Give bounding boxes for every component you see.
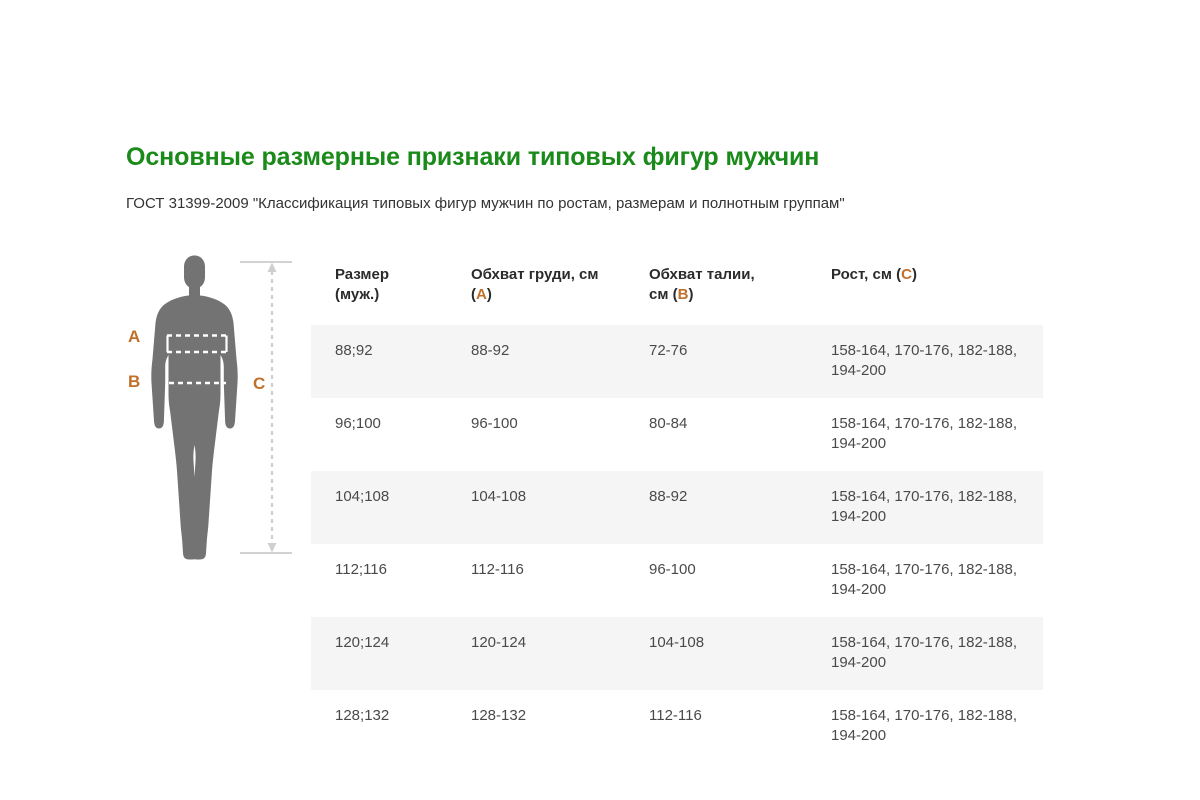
cell-height-line2: 194-200 (831, 581, 886, 598)
cell-height-line2: 194-200 (831, 362, 886, 379)
column-header-size-line2: (муж.) (335, 286, 379, 303)
column-header-waist: Обхват талии, см (B) (625, 258, 807, 325)
cell-height-line1: 158-164, 170-176, 182-188, (831, 707, 1017, 724)
table-row: 120;124120-124104-108158-164, 170-176, 1… (311, 617, 1043, 690)
cell-size: 128;132 (311, 690, 447, 763)
cell-height: 158-164, 170-176, 182-188,194-200 (807, 325, 1043, 398)
cell-size: 96;100 (311, 398, 447, 471)
cell-chest: 120-124 (447, 617, 625, 690)
cell-size: 88;92 (311, 325, 447, 398)
cell-waist: 88-92 (625, 471, 807, 544)
table-body: 88;9288-9272-76158-164, 170-176, 182-188… (311, 325, 1043, 763)
page-root: Основные размерные признаки типовых фигу… (0, 0, 1200, 800)
height-letter-mark: C (901, 266, 912, 283)
column-header-height-suffix: ) (912, 266, 917, 283)
cell-waist: 104-108 (625, 617, 807, 690)
cell-height: 158-164, 170-176, 182-188,194-200 (807, 544, 1043, 617)
table-row: 88;9288-9272-76158-164, 170-176, 182-188… (311, 325, 1043, 398)
column-header-size: Размер (муж.) (311, 258, 447, 325)
column-header-height: Рост, см (C) (807, 258, 1043, 325)
cell-waist: 112-116 (625, 690, 807, 763)
column-header-chest-suffix: ) (487, 286, 492, 303)
waist-measure-letter: B (128, 373, 140, 391)
cell-size: 112;116 (311, 544, 447, 617)
cell-height-line2: 194-200 (831, 435, 886, 452)
cell-waist: 72-76 (625, 325, 807, 398)
table-header: Размер (муж.) Обхват груди, см (A) Обхва… (311, 258, 1043, 325)
cell-height-line1: 158-164, 170-176, 182-188, (831, 342, 1017, 359)
page-subtitle: ГОСТ 31399-2009 "Классификация типовых ф… (126, 194, 845, 214)
cell-height: 158-164, 170-176, 182-188,194-200 (807, 690, 1043, 763)
cell-chest: 104-108 (447, 471, 625, 544)
cell-height: 158-164, 170-176, 182-188,194-200 (807, 398, 1043, 471)
table-row: 104;108104-10888-92158-164, 170-176, 182… (311, 471, 1043, 544)
column-header-chest: Обхват груди, см (A) (447, 258, 625, 325)
cell-size: 120;124 (311, 617, 447, 690)
size-table: Размер (муж.) Обхват груди, см (A) Обхва… (311, 258, 1043, 763)
table-row: 112;116112-11696-100158-164, 170-176, 18… (311, 544, 1043, 617)
cell-chest: 88-92 (447, 325, 625, 398)
table-header-row: Размер (муж.) Обхват груди, см (A) Обхва… (311, 258, 1043, 325)
column-header-size-line1: Размер (335, 266, 389, 283)
height-measure-guide (240, 262, 292, 553)
cell-waist: 80-84 (625, 398, 807, 471)
cell-height-line2: 194-200 (831, 727, 886, 744)
cell-height-line2: 194-200 (831, 508, 886, 525)
waist-letter-mark: B (678, 286, 689, 303)
chest-measure-letter: A (128, 328, 140, 346)
cell-height: 158-164, 170-176, 182-188,194-200 (807, 471, 1043, 544)
cell-height-line1: 158-164, 170-176, 182-188, (831, 488, 1017, 505)
column-header-height-prefix: Рост, см ( (831, 266, 901, 283)
chest-letter-mark: A (476, 286, 487, 303)
height-measure-letter: C (253, 375, 265, 393)
cell-chest: 112-116 (447, 544, 625, 617)
cell-waist: 96-100 (625, 544, 807, 617)
page-title: Основные размерные признаки типовых фигу… (126, 142, 819, 172)
column-header-chest-line1: Обхват груди, см (471, 266, 598, 283)
cell-height-line1: 158-164, 170-176, 182-188, (831, 634, 1017, 651)
column-header-waist-prefix: см ( (649, 286, 678, 303)
cell-height-line1: 158-164, 170-176, 182-188, (831, 415, 1017, 432)
column-header-waist-suffix: ) (688, 286, 693, 303)
cell-height-line1: 158-164, 170-176, 182-188, (831, 561, 1017, 578)
cell-height-line2: 194-200 (831, 654, 886, 671)
cell-chest: 96-100 (447, 398, 625, 471)
cell-chest: 128-132 (447, 690, 625, 763)
male-silhouette-icon (110, 255, 300, 565)
column-header-waist-line1: Обхват талии, (649, 266, 755, 283)
body-measurement-diagram: A B C (110, 255, 300, 565)
cell-height: 158-164, 170-176, 182-188,194-200 (807, 617, 1043, 690)
table-row: 96;10096-10080-84158-164, 170-176, 182-1… (311, 398, 1043, 471)
cell-size: 104;108 (311, 471, 447, 544)
table-row: 128;132128-132112-116158-164, 170-176, 1… (311, 690, 1043, 763)
